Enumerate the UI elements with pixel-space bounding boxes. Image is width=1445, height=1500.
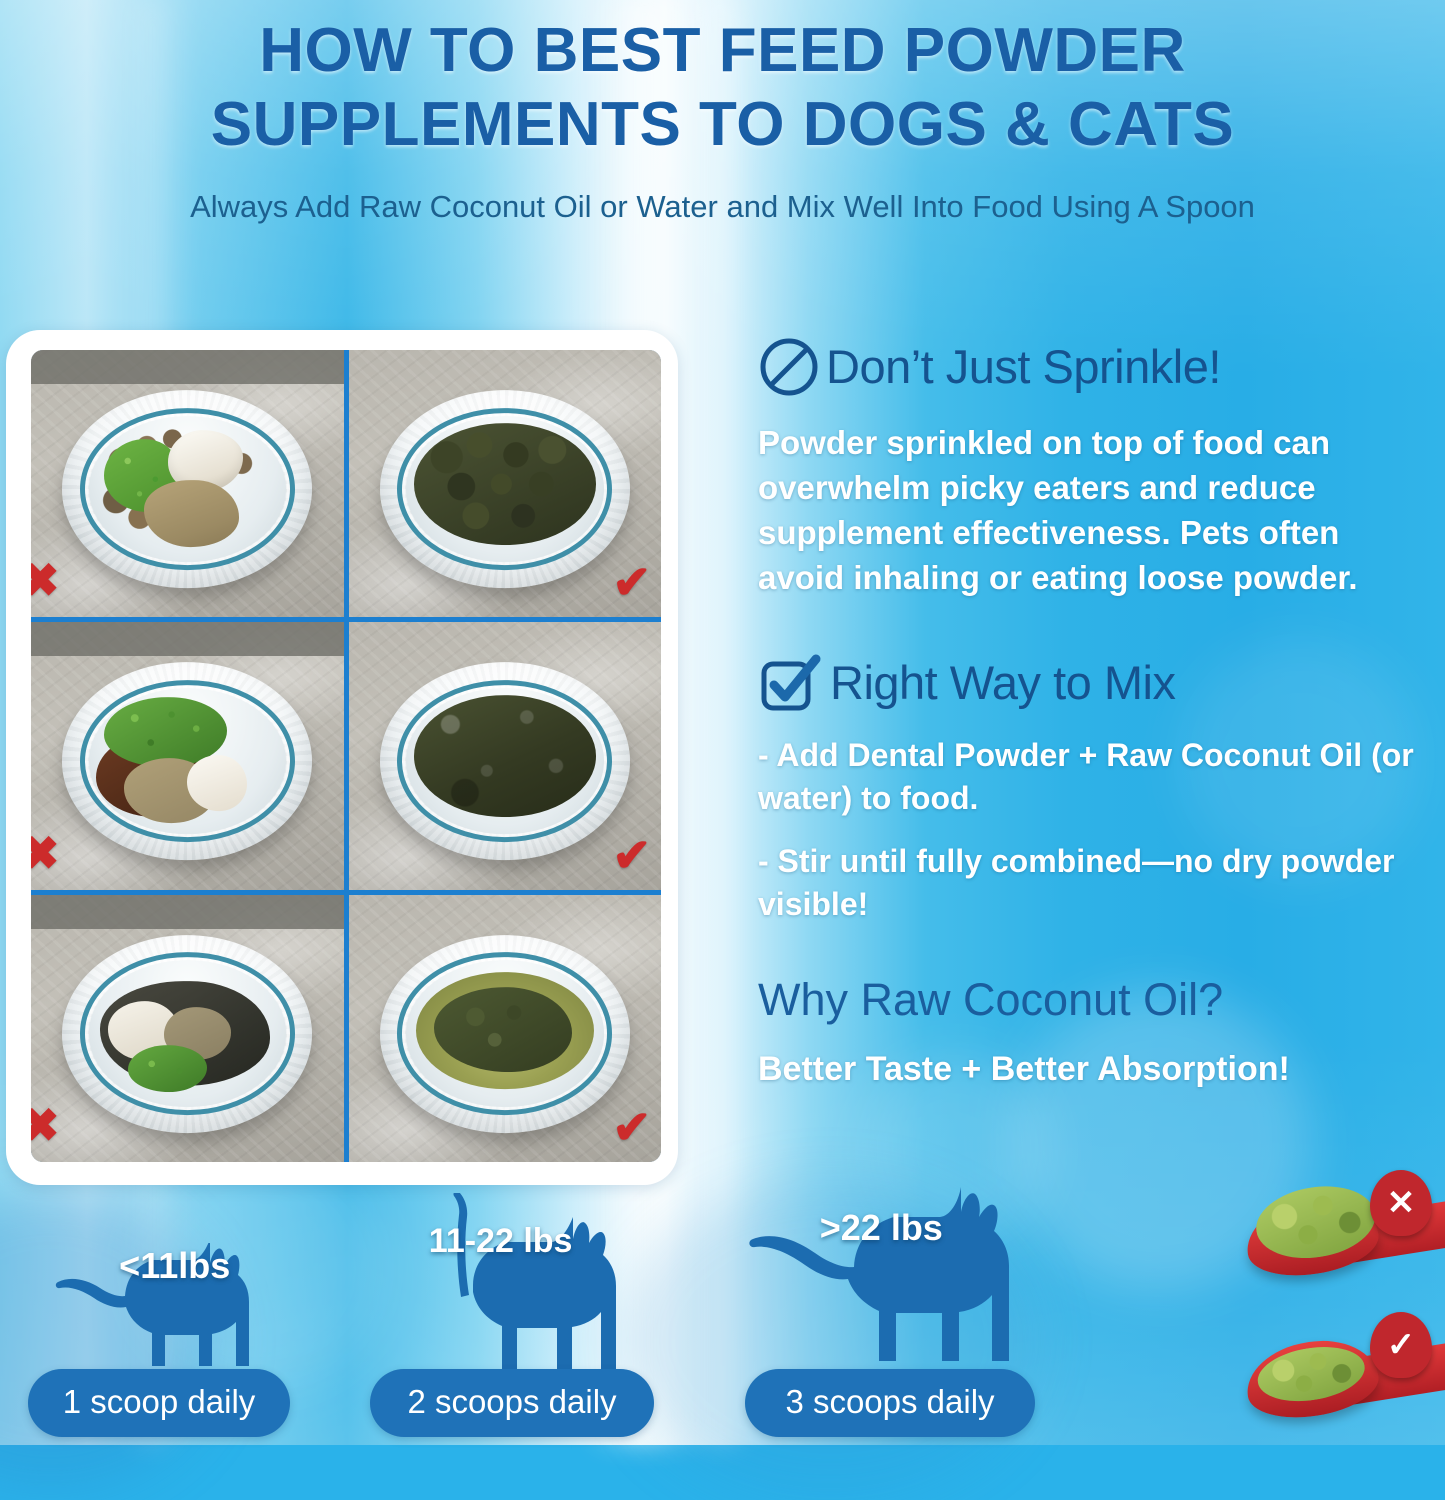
bowl-interior bbox=[406, 960, 604, 1106]
cross-mark-icon: ✖ bbox=[31, 1102, 60, 1148]
row-label-dry-food: Dry Food bbox=[31, 350, 344, 384]
bowl bbox=[380, 662, 630, 860]
section-dont-sprinkle-heading: Don’t Just Sprinkle! bbox=[758, 336, 1430, 398]
bowl bbox=[62, 935, 312, 1133]
photo-cell-dry-unmixed: Dry Food ✖ bbox=[31, 350, 344, 617]
bowl-interior bbox=[406, 688, 604, 834]
spoon-level: ✓ bbox=[1244, 1322, 1434, 1430]
bowl-interior bbox=[89, 688, 287, 834]
green-powder bbox=[1251, 1178, 1380, 1266]
why-coconut-oil-answer: Better Taste + Better Absorption! bbox=[758, 1046, 1430, 1092]
right-way-title: Right Way to Mix bbox=[830, 655, 1175, 711]
spoon-comparison: ✕ ✓ bbox=[1230, 1170, 1445, 1445]
check-mark-icon: ✔ bbox=[612, 559, 651, 605]
dosage-weight-large: >22 lbs bbox=[820, 1207, 943, 1249]
dosage-pill-medium: 2 scoops daily bbox=[370, 1369, 654, 1437]
photo-cell-fresh-mixed: ✔ bbox=[349, 622, 662, 889]
right-way-bullet-2: - Stir until fully combined—no dry powde… bbox=[758, 840, 1430, 926]
section-right-way-heading: Right Way to Mix bbox=[758, 652, 1430, 714]
mixed-food bbox=[414, 423, 596, 545]
photo-cell-fresh-unmixed: Fresh & Canned Foods ✖ bbox=[31, 622, 344, 889]
bowl bbox=[380, 390, 630, 588]
dosage-weight-small: <11lbs bbox=[119, 1245, 230, 1287]
green-powder bbox=[1254, 1340, 1369, 1408]
photo-cell-oil-mixed: ✔ bbox=[349, 895, 662, 1162]
white-powder bbox=[187, 755, 246, 811]
cross-badge-icon: ✕ bbox=[1370, 1170, 1432, 1236]
right-column: Don’t Just Sprinkle! Powder sprinkled on… bbox=[758, 336, 1430, 1092]
check-badge-icon: ✓ bbox=[1370, 1312, 1432, 1378]
dosage-pill-large: 3 scoops daily bbox=[745, 1369, 1035, 1437]
page-title: HOW TO BEST FEED POWDER SUPPLEMENTS TO D… bbox=[0, 0, 1445, 162]
page-title-line1: HOW TO BEST FEED POWDER bbox=[40, 14, 1405, 88]
dont-sprinkle-title: Don’t Just Sprinkle! bbox=[826, 339, 1221, 395]
dosage-item-medium: 11-22 lbs 2 scoops daily bbox=[370, 1369, 654, 1437]
bowl-interior bbox=[89, 416, 287, 562]
bowl bbox=[62, 662, 312, 860]
spoon-heaped: ✕ bbox=[1244, 1180, 1434, 1288]
photo-cell-dry-mixed: ✔ bbox=[349, 350, 662, 617]
bowl-interior bbox=[406, 416, 604, 562]
right-way-bullet-1: - Add Dental Powder + Raw Coconut Oil (o… bbox=[758, 734, 1430, 820]
photo-grid: Dry Food ✖ ✔ bbox=[31, 350, 661, 1162]
bowl bbox=[380, 935, 630, 1133]
check-mark-icon: ✔ bbox=[612, 832, 651, 878]
row-label-fresh-canned: Fresh & Canned Foods bbox=[31, 622, 344, 656]
bowl bbox=[62, 390, 312, 588]
photo-panel: Dry Food ✖ ✔ bbox=[6, 330, 678, 1185]
page-subtitle: Always Add Raw Coconut Oil or Water and … bbox=[0, 188, 1445, 226]
dosage-item-small: <11lbs 1 scoop daily bbox=[28, 1369, 290, 1437]
dosage-row: <11lbs 1 scoop daily 11-22 lbs 2 scoops … bbox=[0, 1185, 1160, 1445]
why-coconut-oil-question: Why Raw Coconut Oil? bbox=[758, 972, 1430, 1028]
check-mark-icon: ✔ bbox=[612, 1104, 651, 1150]
checkbox-checked-icon bbox=[758, 652, 824, 714]
page-title-line2: SUPPLEMENTS TO DOGS & CATS bbox=[40, 88, 1405, 162]
dosage-weight-medium: 11-22 lbs bbox=[429, 1222, 573, 1261]
photo-cell-oil-unmixed: Raw Coconut Oil, Other Oils & Broths ✖ bbox=[31, 895, 344, 1162]
green-powder bbox=[128, 1045, 207, 1092]
dont-sprinkle-body: Powder sprinkled on top of food can over… bbox=[758, 420, 1430, 600]
cross-mark-icon: ✖ bbox=[31, 557, 60, 603]
spoon-scoop bbox=[1241, 1332, 1383, 1426]
mixed-food bbox=[414, 695, 596, 817]
header: HOW TO BEST FEED POWDER SUPPLEMENTS TO D… bbox=[0, 0, 1445, 226]
row-label-raw-coconut-oil: Raw Coconut Oil, Other Oils & Broths bbox=[31, 895, 344, 929]
section-right-way: Right Way to Mix - Add Dental Powder + R… bbox=[758, 652, 1430, 926]
cross-mark-icon: ✖ bbox=[31, 830, 60, 876]
spoon-scoop bbox=[1241, 1190, 1383, 1284]
section-why-coconut-oil: Why Raw Coconut Oil? Better Taste + Bett… bbox=[758, 972, 1430, 1092]
prohibition-icon bbox=[758, 336, 820, 398]
dosage-pill-small: 1 scoop daily bbox=[28, 1369, 290, 1437]
dosage-item-large: >22 lbs 3 scoops daily bbox=[745, 1369, 1035, 1437]
bowl-interior bbox=[89, 960, 287, 1106]
